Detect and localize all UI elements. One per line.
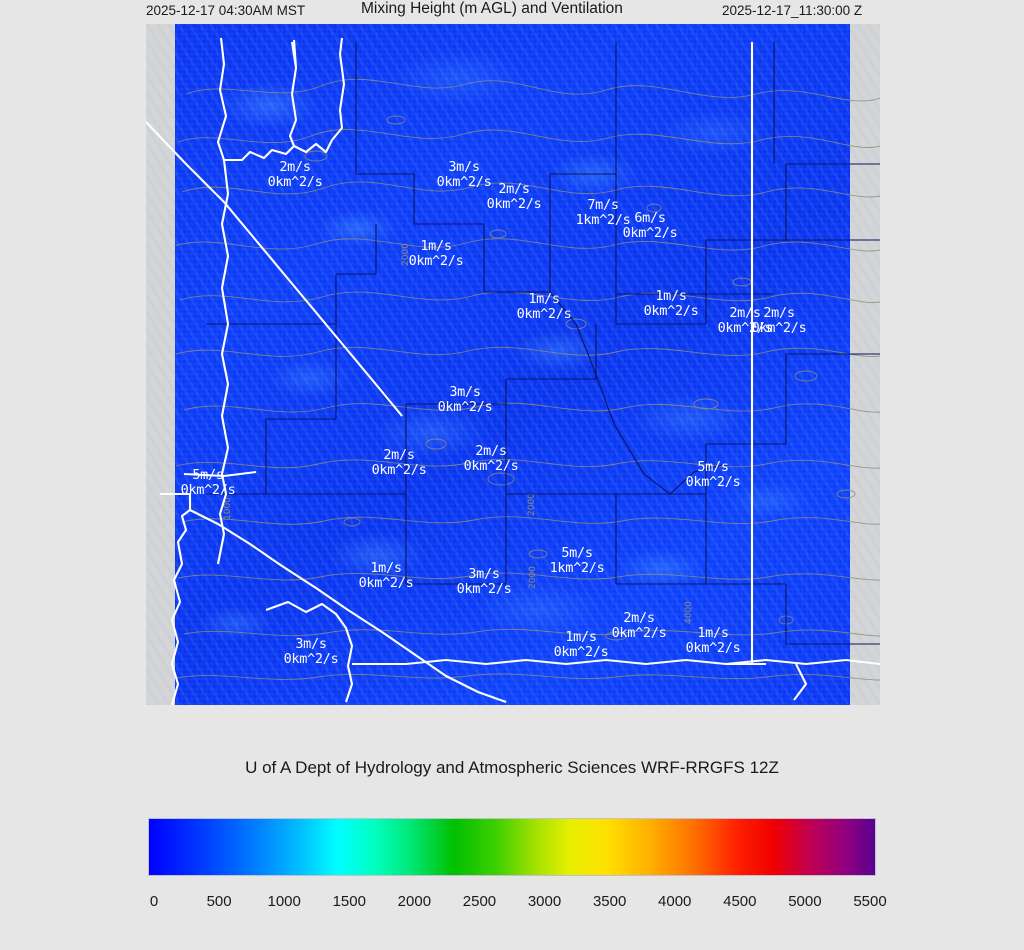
ventilation-value: 0km^2/s (686, 641, 741, 656)
wind-speed-value: 3m/s (437, 160, 492, 175)
header-bar: 2025-12-17 04:30AM MST Mixing Height (m … (0, 0, 1024, 22)
ventilation-value: 0km^2/s (644, 304, 699, 319)
ventilation-value: 0km^2/s (409, 254, 464, 269)
colorbar (148, 818, 876, 876)
colorbar-tick: 4000 (658, 893, 691, 910)
colorbar-gradient (149, 819, 875, 875)
wind-speed-value: 5m/s (181, 468, 236, 483)
ventilation-value: 0km^2/s (623, 226, 678, 241)
colorbar-tick: 3000 (528, 893, 561, 910)
ventilation-value: 0km^2/s (268, 175, 323, 190)
wind-speed-value: 1m/s (686, 626, 741, 641)
wind-ventilation-label: 1m/s0km^2/s (517, 292, 572, 322)
wind-speed-value: 2m/s (372, 448, 427, 463)
ventilation-value: 0km^2/s (752, 321, 807, 336)
wind-ventilation-label: 2m/s0km^2/s (268, 160, 323, 190)
wind-speed-value: 2m/s (487, 182, 542, 197)
wind-ventilation-label: 5m/s0km^2/s (181, 468, 236, 498)
wind-ventilation-label: 3m/s0km^2/s (284, 637, 339, 667)
wind-speed-value: 3m/s (438, 385, 493, 400)
wind-ventilation-label: 5m/s1km^2/s (550, 546, 605, 576)
colorbar-tick-labels: 0500100015002000250030003500400045005000… (148, 893, 876, 915)
colorbar-tick: 4500 (723, 893, 756, 910)
colorbar-tick: 1500 (333, 893, 366, 910)
wind-speed-value: 3m/s (284, 637, 339, 652)
wind-ventilation-label: 1m/s0km^2/s (644, 289, 699, 319)
colorbar-tick: 1000 (267, 893, 300, 910)
ventilation-value: 0km^2/s (372, 463, 427, 478)
wind-ventilation-label: 1m/s0km^2/s (409, 239, 464, 269)
colorbar-tick: 3500 (593, 893, 626, 910)
wind-ventilation-label: 3m/s0km^2/s (457, 567, 512, 597)
ventilation-value: 0km^2/s (284, 652, 339, 667)
ventilation-value: 0km^2/s (686, 475, 741, 490)
wind-ventilation-label: 1m/s0km^2/s (359, 561, 414, 591)
ventilation-value: 0km^2/s (612, 626, 667, 641)
wind-speed-value: 1m/s (409, 239, 464, 254)
credit-line: U of A Dept of Hydrology and Atmospheric… (0, 758, 1024, 778)
ventilation-value: 0km^2/s (181, 483, 236, 498)
wind-ventilation-label: 1m/s0km^2/s (554, 630, 609, 660)
wind-ventilation-label: 5m/s0km^2/s (686, 460, 741, 490)
wind-speed-value: 2m/s (464, 444, 519, 459)
wind-ventilation-label: 2m/s0km^2/s (487, 182, 542, 212)
colorbar-tick: 0 (150, 893, 158, 910)
ventilation-value: 0km^2/s (359, 576, 414, 591)
colorbar-tick: 2000 (398, 893, 431, 910)
ventilation-value: 0km^2/s (517, 307, 572, 322)
wind-speed-value: 5m/s (686, 460, 741, 475)
ventilation-value: 0km^2/s (554, 645, 609, 660)
wind-speed-value: 2m/s (752, 306, 807, 321)
wind-speed-value: 1m/s (517, 292, 572, 307)
model-init-time: 2025-12-17 04:30AM MST (146, 2, 305, 20)
ventilation-value: 0km^2/s (438, 400, 493, 415)
colorbar-tick: 5500 (853, 893, 886, 910)
wind-speed-value: 1m/s (554, 630, 609, 645)
model-valid-time: 2025-12-17_11:30:00 Z (722, 2, 862, 20)
wind-ventilation-label: 2m/s0km^2/s (752, 306, 807, 336)
wind-speed-value: 2m/s (268, 160, 323, 175)
wind-speed-value: 1m/s (359, 561, 414, 576)
ventilation-value: 0km^2/s (437, 175, 492, 190)
wind-ventilation-label: 1m/s0km^2/s (686, 626, 741, 656)
wind-ventilation-label: 2m/s0km^2/s (612, 611, 667, 641)
wind-speed-value: 2m/s (612, 611, 667, 626)
wind-speed-value: 1m/s (644, 289, 699, 304)
page-title: Mixing Height (m AGL) and Ventilation (361, 0, 623, 18)
colorbar-tick: 5000 (788, 893, 821, 910)
wind-ventilation-label: 6m/s0km^2/s (623, 211, 678, 241)
wind-ventilation-label: 3m/s0km^2/s (438, 385, 493, 415)
wind-speed-value: 6m/s (623, 211, 678, 226)
wind-ventilation-label: 3m/s0km^2/s (437, 160, 492, 190)
colorbar-tick: 2500 (463, 893, 496, 910)
wind-speed-value: 5m/s (550, 546, 605, 561)
colorbar-tick: 500 (207, 893, 232, 910)
wind-ventilation-label: 2m/s0km^2/s (464, 444, 519, 474)
ventilation-value: 0km^2/s (464, 459, 519, 474)
ventilation-value: 1km^2/s (550, 561, 605, 576)
mixing-height-map[interactable]: 1000 2000 2000 2000 4000 (146, 24, 880, 705)
wind-speed-value: 3m/s (457, 567, 512, 582)
wind-ventilation-label: 2m/s0km^2/s (372, 448, 427, 478)
ventilation-value: 0km^2/s (457, 582, 512, 597)
state-border-layer (146, 24, 880, 705)
ventilation-value: 0km^2/s (487, 197, 542, 212)
